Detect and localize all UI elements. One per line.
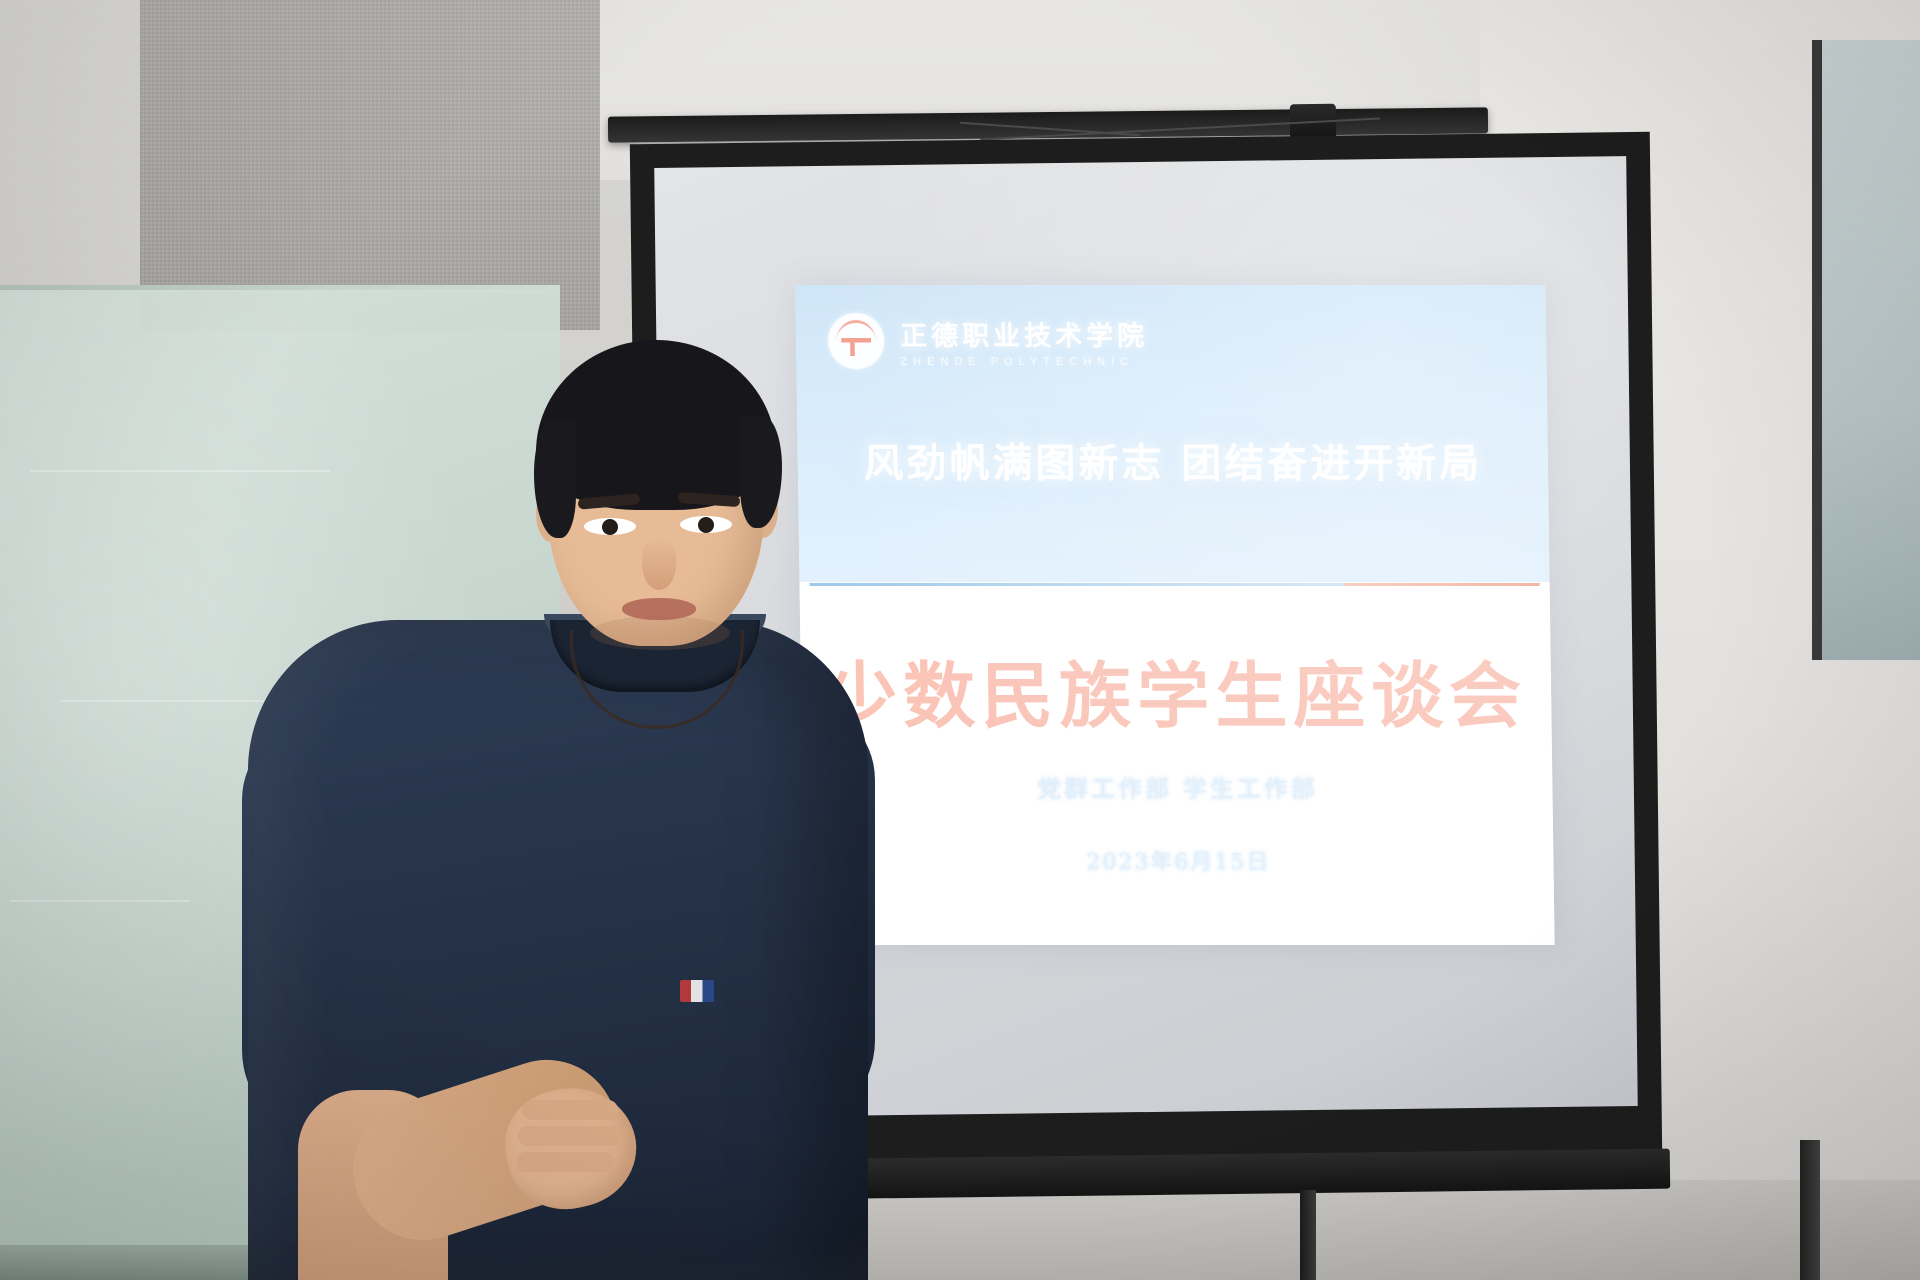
hair-side-left (534, 420, 576, 538)
chin-shadow (590, 616, 730, 650)
slide-divider (800, 582, 1550, 589)
slide-department: 党群工作部 学生工作部 (802, 769, 1553, 804)
university-name-en: ZHENDE POLYTECHNIC (900, 356, 1148, 368)
divider-segment-blue (810, 583, 1410, 586)
pupil-right (698, 517, 714, 533)
pupil-left (602, 519, 618, 535)
shirt-brand-flag-icon (680, 980, 714, 1002)
screen-stand-leg-right (1300, 1190, 1316, 1280)
nose (642, 538, 676, 590)
finger (516, 1152, 614, 1172)
slide-body: 少数民族学生座谈会 党群工作部 学生工作部 2023年6月15日 (800, 589, 1555, 945)
presenter (150, 300, 850, 1280)
screen-stand-leg-far (1800, 1140, 1820, 1280)
acoustic-panel-edge (0, 0, 140, 330)
window-pane (1812, 40, 1920, 660)
university-logo: 正德职业技术学院 ZHENDE POLYTECHNIC (828, 313, 1149, 369)
finger (522, 1100, 618, 1120)
finger (518, 1126, 622, 1146)
slide-header-band: 正德职业技术学院 ZHENDE POLYTECHNIC 风劲帆满图新志 团结奋进… (795, 285, 1549, 582)
university-name-block: 正德职业技术学院 ZHENDE POLYTECHNIC (900, 314, 1149, 368)
slide-date: 2023年6月15日 (803, 844, 1554, 876)
presentation-scene: 正德职业技术学院 ZHENDE POLYTECHNIC 风劲帆满图新志 团结奋进… (0, 0, 1920, 1280)
divider-segment-red (1345, 583, 1540, 586)
slide-headline: 风劲帆满图新志 团结奋进开新局 (797, 431, 1548, 489)
slide-main-title: 少数民族学生座谈会 (800, 637, 1552, 742)
projected-slide: 正德职业技术学院 ZHENDE POLYTECHNIC 风劲帆满图新志 团结奋进… (795, 285, 1554, 945)
university-name-cn: 正德职业技术学院 (900, 314, 1149, 353)
